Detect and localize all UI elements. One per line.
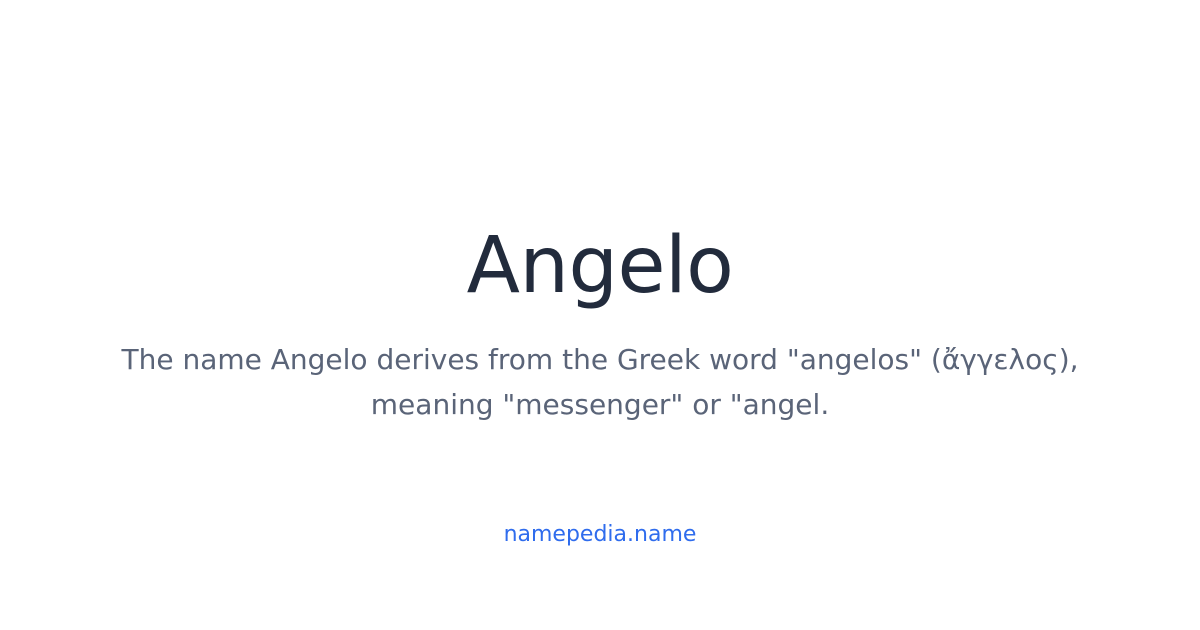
site-link[interactable]: namepedia.name: [0, 520, 1200, 550]
page-title: Angelo: [0, 224, 1200, 308]
name-share-card: Angelo The name Angelo derives from the …: [0, 0, 1200, 630]
name-description: The name Angelo derives from the Greek w…: [100, 337, 1100, 427]
